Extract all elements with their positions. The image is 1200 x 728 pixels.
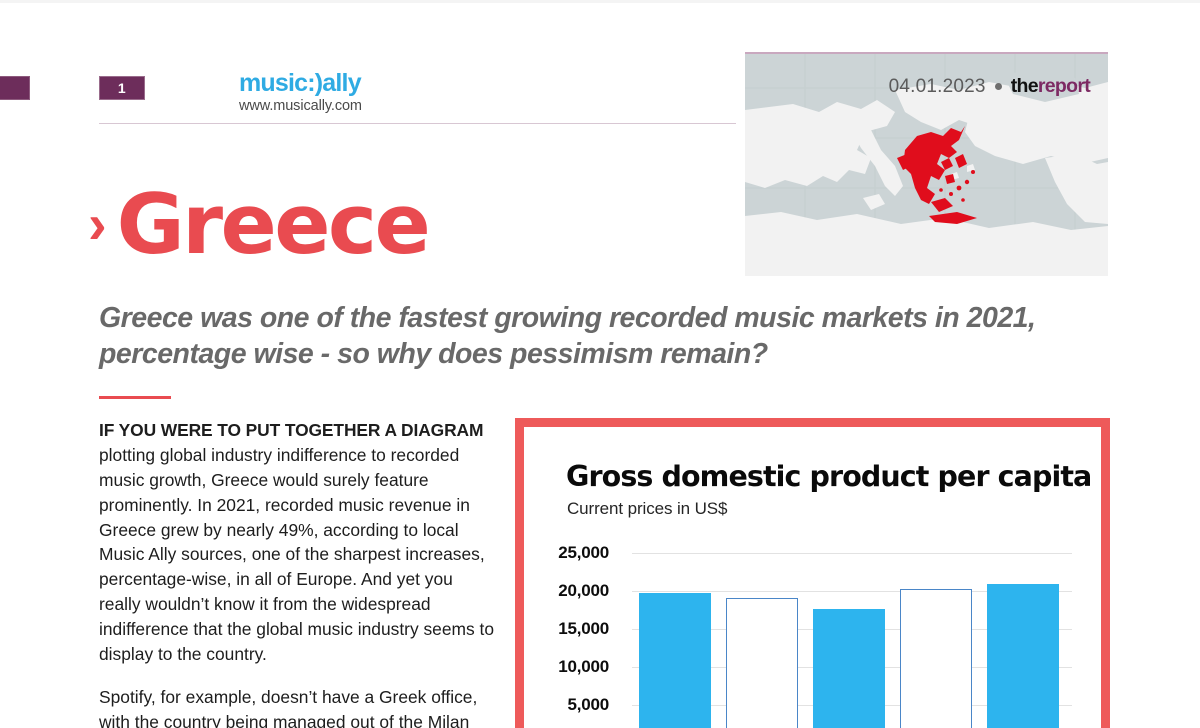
- chart-bars: [639, 533, 1071, 728]
- map-caption: 04.01.2023 thereport: [889, 75, 1090, 98]
- article-subtitle: Greece was one of the fastest growing re…: [99, 300, 1099, 373]
- header-divider: [99, 123, 736, 124]
- body-paragraph-1-text: plotting global industry indifference to…: [99, 445, 494, 664]
- top-edge-strip: [0, 0, 1200, 3]
- the-report-word-the: the: [1011, 75, 1038, 97]
- separator-dot-icon: [995, 83, 1002, 90]
- the-report-logo: thereport: [1011, 75, 1090, 98]
- chart-inner: Gross domestic product per capita Curren…: [524, 427, 1101, 728]
- publication-date: 04.01.2023: [889, 76, 986, 98]
- chevron-right-icon: ›: [88, 192, 117, 255]
- brand-website-url[interactable]: www.musically.com: [239, 98, 479, 114]
- country-name: Greece: [117, 176, 429, 273]
- chart-y-tick-label: 10,000: [558, 657, 609, 677]
- chart-y-tick-label: 5,000: [567, 695, 609, 715]
- article-body: IF YOU WERE TO PUT TOGETHER A DIAGRAM pl…: [99, 418, 499, 728]
- map-panel: 04.01.2023 thereport: [745, 52, 1108, 276]
- page-canvas: 1 music:)ally www.musically.com: [0, 0, 1200, 728]
- body-paragraph-1: IF YOU WERE TO PUT TOGETHER A DIAGRAM pl…: [99, 418, 499, 667]
- chart-y-tick-label: 25,000: [558, 543, 609, 563]
- section-rule: [99, 396, 171, 399]
- chart-bar: [987, 584, 1059, 728]
- the-report-word-report: report: [1038, 75, 1090, 97]
- brand-block: music:)ally www.musically.com: [239, 70, 479, 114]
- body-lede: IF YOU WERE TO PUT TOGETHER A DIAGRAM: [99, 420, 483, 440]
- page-number-badge: 1: [99, 76, 145, 100]
- chart-plot-area: 25,00020,00015,00010,0005,000: [524, 533, 1101, 728]
- chart-bar: [639, 593, 711, 728]
- chart-subtitle: Current prices in US$: [567, 499, 727, 519]
- body-paragraph-2: Spotify, for example, doesn’t have a Gre…: [99, 685, 499, 728]
- chart-bar: [813, 609, 885, 728]
- chart-y-tick-label: 20,000: [558, 581, 609, 601]
- musically-logo[interactable]: music:)ally: [239, 70, 479, 96]
- page-title: ›Greece: [88, 183, 428, 266]
- chart-bar: [900, 589, 972, 728]
- page-number-label: 1: [118, 80, 126, 96]
- chart-y-tick-label: 15,000: [558, 619, 609, 639]
- chart-bar: [726, 598, 798, 728]
- chart-title: Gross domestic product per capita: [566, 460, 1091, 493]
- left-edge-tab: [0, 76, 30, 100]
- chart-panel: Gross domestic product per capita Curren…: [515, 418, 1110, 728]
